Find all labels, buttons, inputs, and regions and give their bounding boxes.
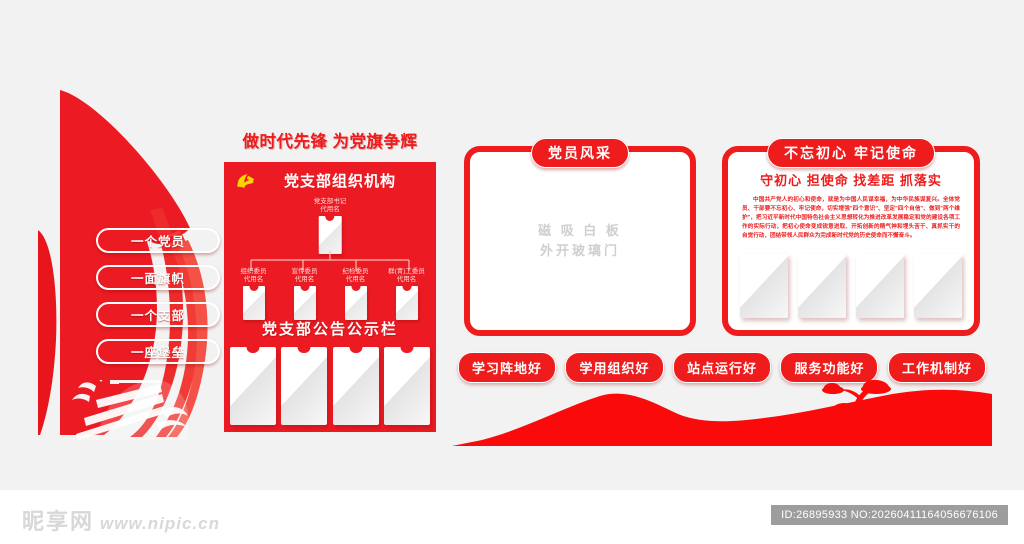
mission-slot — [740, 254, 788, 318]
photo-card-member — [396, 286, 418, 320]
org-root-subtitle: 代用名 — [314, 206, 347, 214]
mission-pill-title: 不忘初心 牢记使命 — [767, 138, 935, 168]
mission-frame: 不忘初心 牢记使命 守初心 担使命 找差距 抓落实 中国共产党人的初心和使命，就… — [722, 146, 980, 336]
org-panel-headline: 做时代先锋 为党旗争辉 — [224, 128, 436, 152]
notice-slot — [281, 347, 327, 425]
ribbon-label: 一座堡垒 — [131, 342, 185, 361]
slogan-badge-row: 学习阵地好 学用组织好 站点运行好 服务功能好 工作机制好 — [458, 352, 986, 383]
ribbon-item-4: 一座堡垒 — [96, 339, 220, 364]
member-showcase-panel: 党员风采 磁 吸 白 板 外开玻璃门 — [464, 146, 696, 336]
mission-slot-list — [740, 254, 962, 318]
slogan-badge-3[interactable]: 站点运行好 — [673, 352, 771, 383]
flag-ribbon-sculpture: 一个党员 一面旗帜 一个支部 一座堡垒 — [38, 60, 218, 440]
org-member-title: 宣传委员 — [282, 268, 328, 276]
mission-panel: 不忘初心 牢记使命 守初心 担使命 找差距 抓落实 中国共产党人的初心和使命，就… — [722, 146, 980, 336]
watermark-brand: 昵享网 — [22, 504, 94, 536]
watermark-url: www.nipic.cn — [100, 514, 220, 534]
mission-subtitle: 守初心 担使命 找差距 抓落实 — [728, 170, 974, 189]
notice-slot — [230, 347, 276, 425]
hammer-sickle-icon — [234, 171, 258, 191]
org-node-member: 纪检委员 代用名 — [333, 268, 379, 320]
mission-slot — [914, 254, 962, 318]
org-member-subtitle: 代用名 — [333, 276, 379, 284]
ribbon-item-3: 一个支部 — [96, 302, 220, 327]
org-member-title: 纪检委员 — [333, 268, 379, 276]
notice-slot — [333, 347, 379, 425]
org-node-member: 宣传委员 代用名 — [282, 268, 328, 320]
ribbon-label: 一个支部 — [131, 305, 185, 324]
photo-card-member — [243, 286, 265, 320]
org-member-title: 群(青)工委员 — [384, 268, 430, 276]
org-node-root: 党支部书记 代用名 — [314, 198, 347, 254]
ghost-line-1: 磁 吸 白 板 — [538, 221, 622, 241]
slogan-badge-5[interactable]: 工作机制好 — [888, 352, 986, 383]
org-member-row: 组织委员 代用名 宣传委员 代用名 纪检委员 代用名 — [224, 268, 436, 320]
photo-card-member — [345, 286, 367, 320]
org-board-title: 党支部组织机构 — [258, 170, 436, 191]
showcase-frame: 党员风采 磁 吸 白 板 外开玻璃门 — [464, 146, 696, 336]
org-board-header: 党支部组织机构 — [224, 162, 436, 191]
org-chart-panel: 做时代先锋 为党旗争辉 党支部组织机构 党支部书记 代用名 — [224, 128, 436, 432]
photo-card-member — [294, 286, 316, 320]
showcase-ghost-text: 磁 吸 白 板 外开玻璃门 — [470, 152, 690, 330]
notice-slot — [384, 347, 430, 425]
notice-slot-list — [230, 347, 430, 425]
org-member-title: 组织委员 — [231, 268, 277, 276]
mission-body-text: 中国共产党人的初心和使命，就是为中国人民谋幸福，为中华民族谋复兴。全体党员、干部… — [742, 196, 960, 241]
ribbon-item-1: 一个党员 — [96, 228, 220, 253]
org-tree: 党支部书记 代用名 组织委员 代用名 宣传委员 代用名 — [224, 198, 436, 316]
photo-card-root — [319, 216, 342, 254]
org-member-subtitle: 代用名 — [231, 276, 277, 284]
org-node-member: 群(青)工委员 代用名 — [384, 268, 430, 320]
ghost-line-2: 外开玻璃门 — [540, 241, 620, 261]
ribbon-label-list: 一个党员 一面旗帜 一个支部 一座堡垒 — [96, 228, 226, 376]
poster-canvas: 一个党员 一面旗帜 一个支部 一座堡垒 做时代先锋 为党旗争辉 党支部组织机构 … — [0, 0, 1024, 490]
mission-slot — [856, 254, 904, 318]
org-board: 党支部组织机构 党支部书记 代用名 组织委员 代用名 — [224, 162, 436, 432]
slogan-badge-2[interactable]: 学用组织好 — [565, 352, 663, 383]
image-id-tag: ID:26895933 NO:20260411164056676106 — [771, 505, 1008, 525]
mountain-pine-silhouette-icon — [452, 380, 992, 450]
notice-board-title: 党支部公告公示栏 — [224, 318, 436, 339]
org-member-subtitle: 代用名 — [282, 276, 328, 284]
footer-bar: 昵享网 www.nipic.cn ID:26895933 NO:20260411… — [0, 490, 1024, 544]
mission-slot — [798, 254, 846, 318]
org-node-member: 组织委员 代用名 — [231, 268, 277, 320]
ribbon-label: 一面旗帜 — [131, 268, 185, 287]
slogan-badge-4[interactable]: 服务功能好 — [780, 352, 878, 383]
site-watermark: 昵享网 www.nipic.cn — [22, 504, 220, 536]
ribbon-item-2: 一面旗帜 — [96, 265, 220, 290]
org-member-subtitle: 代用名 — [384, 276, 430, 284]
org-root-title: 党支部书记 — [314, 198, 347, 206]
slogan-badge-1[interactable]: 学习阵地好 — [458, 352, 556, 383]
ribbon-label: 一个党员 — [131, 231, 185, 250]
